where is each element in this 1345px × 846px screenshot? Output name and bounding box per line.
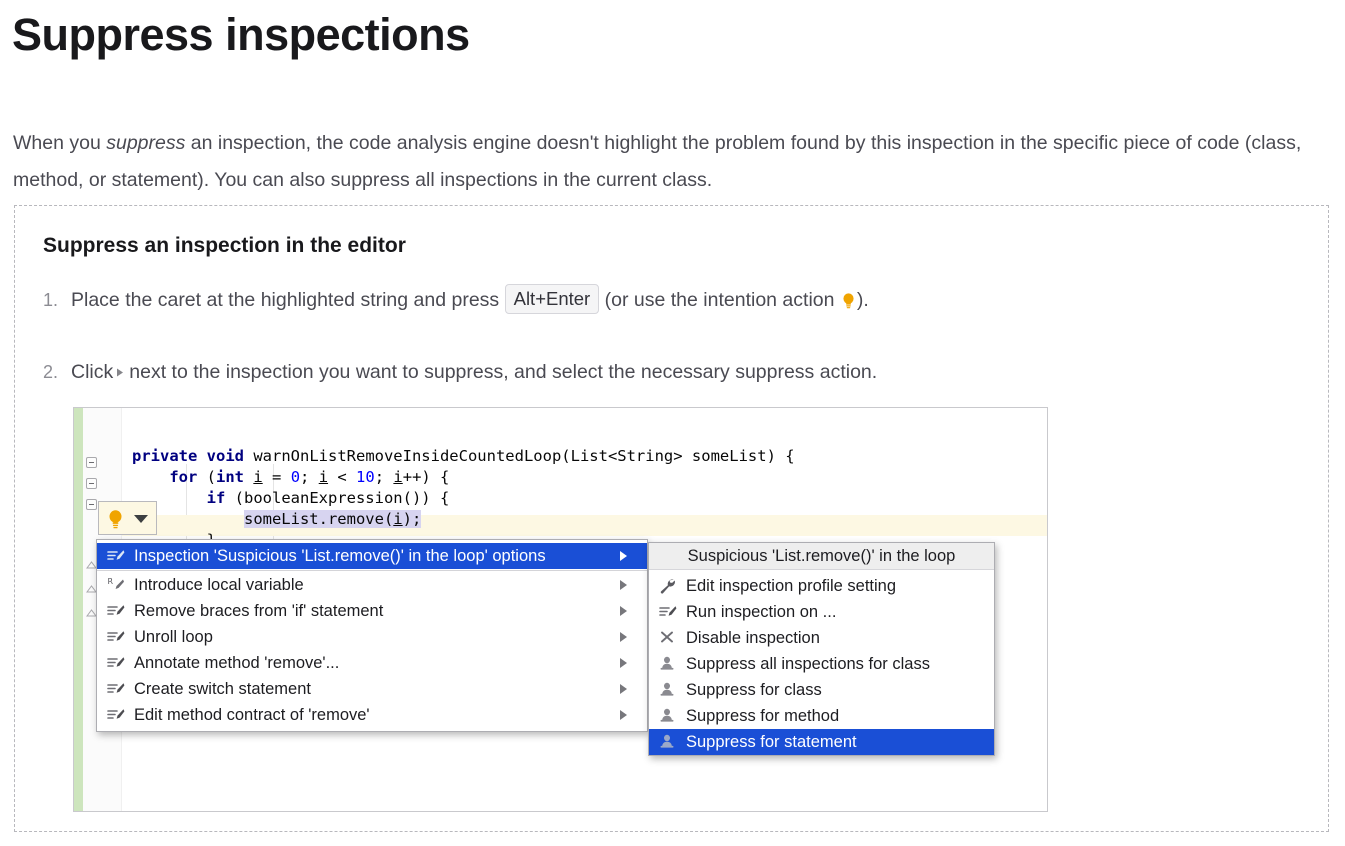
step-1-text-before: Place the caret at the highlighted strin… [71,289,499,311]
intentions-popup-menu[interactable]: Inspection 'Suspicious 'List.remove()' i… [96,539,648,732]
menu-item-disable-inspection[interactable]: Disable inspection [649,625,994,651]
vcs-change-stripe [74,408,83,811]
intention-bulb-widget[interactable] [98,501,157,535]
menu-item-edit-method-contract[interactable]: Edit method contract of 'remove' [97,702,647,728]
lightbulb-icon [107,509,124,529]
procedure-title: Suppress an inspection in the editor [43,234,406,258]
lightbulb-icon [841,287,856,304]
suppress-icon [659,734,681,750]
step-2-number: 2. [43,356,71,388]
intention-icon [107,629,129,645]
submenu-arrow-icon [620,684,641,694]
play-triangle-icon [115,356,125,367]
page-title: Suppress inspections [12,8,470,62]
menu-item-label: Run inspection on ... [686,603,988,622]
step-1-text: Place the caret at the highlighted strin… [71,284,1293,316]
step-1-number: 1. [43,284,71,316]
menu-item-edit-inspection-profile[interactable]: Edit inspection profile setting [649,573,994,599]
inspection-submenu[interactable]: Suspicious 'List.remove()' in the loop E… [648,542,995,756]
menu-item-suppress-for-method[interactable]: Suppress for method [649,703,994,729]
refactor-icon: R [107,577,129,593]
procedure-step-1: 1. Place the caret at the highlighted st… [43,284,1293,316]
editor-code[interactable]: private void warnOnListRemoveInsideCount… [132,446,795,551]
menu-item-create-switch-statement[interactable]: Create switch statement [97,676,647,702]
intention-bulb-icon [107,548,129,564]
menu-item-label: Suppress for method [686,707,988,726]
intention-icon [107,655,129,671]
menu-item-suppress-all-inspections-for-class[interactable]: Suppress all inspections for class [649,651,994,677]
intention-icon [107,707,129,723]
submenu-arrow-icon [620,658,641,668]
intention-icon [659,604,681,620]
menu-item-suppress-for-class[interactable]: Suppress for class [649,677,994,703]
menu-item-label: Introduce local variable [134,576,612,595]
menu-item-suppress-for-statement[interactable]: Suppress for statement [649,729,994,755]
fold-marker-1[interactable] [86,457,97,468]
step-2-text-after: next to the inspection you want to suppr… [129,361,877,383]
intention-icon [107,603,129,619]
submenu-arrow-icon [620,606,641,616]
step-2-text: Clicknext to the inspection you want to … [71,356,1293,388]
menu-item-label: Remove braces from 'if' statement [134,602,612,621]
menu-item-annotate-method[interactable]: Annotate method 'remove'... [97,650,647,676]
inspection-submenu-header: Suspicious 'List.remove()' in the loop [649,543,994,570]
menu-item-introduce-local-variable[interactable]: R Introduce local variable [97,572,647,598]
wrench-icon [659,578,681,594]
menu-item-label: Create switch statement [134,680,612,699]
menu-item-inspection-options[interactable]: Inspection 'Suspicious 'List.remove()' i… [97,543,647,569]
menu-item-label: Suppress for statement [686,733,988,752]
intro-paragraph: When you suppress an inspection, the cod… [13,125,1313,199]
menu-item-label: Disable inspection [686,629,988,648]
suppress-icon [659,682,681,698]
menu-item-label: Suppress all inspections for class [686,655,988,674]
submenu-arrow-icon [620,580,641,590]
menu-item-label: Inspection 'Suspicious 'List.remove()' i… [134,547,612,566]
close-x-icon [659,630,681,646]
fold-marker-3[interactable] [86,499,97,510]
menu-item-run-inspection-on[interactable]: Run inspection on ... [649,599,994,625]
step-2-text-before: Click [71,361,113,383]
suppress-icon [659,708,681,724]
procedure-step-2: 2. Clicknext to the inspection you want … [43,356,1293,388]
menu-item-label: Edit inspection profile setting [686,577,988,596]
intro-text-before: When you [13,132,106,154]
menu-item-label: Edit method contract of 'remove' [134,706,612,725]
menu-item-label: Unroll loop [134,628,612,647]
procedure-steps: 1. Place the caret at the highlighted st… [43,284,1293,388]
menu-item-unroll-loop[interactable]: Unroll loop [97,624,647,650]
menu-item-label: Suppress for class [686,681,988,700]
intro-text-after: an inspection, the code analysis engine … [13,132,1301,191]
submenu-arrow-icon [620,632,641,642]
step-1-text-after: (or use the intention action [605,289,835,311]
menu-item-label: Annotate method 'remove'... [134,654,612,673]
intention-icon [107,681,129,697]
alt-enter-kbd: Alt+Enter [505,284,600,314]
submenu-arrow-icon [620,710,641,720]
triangle-down-icon [134,515,148,523]
menu-separator [97,570,647,571]
intro-emphasis: suppress [106,132,185,154]
svg-text:R: R [108,577,114,586]
submenu-arrow-icon [620,551,641,561]
menu-item-remove-braces[interactable]: Remove braces from 'if' statement [97,598,647,624]
fold-marker-2[interactable] [86,478,97,489]
suppress-icon [659,656,681,672]
step-1-text-end: ). [857,289,869,311]
